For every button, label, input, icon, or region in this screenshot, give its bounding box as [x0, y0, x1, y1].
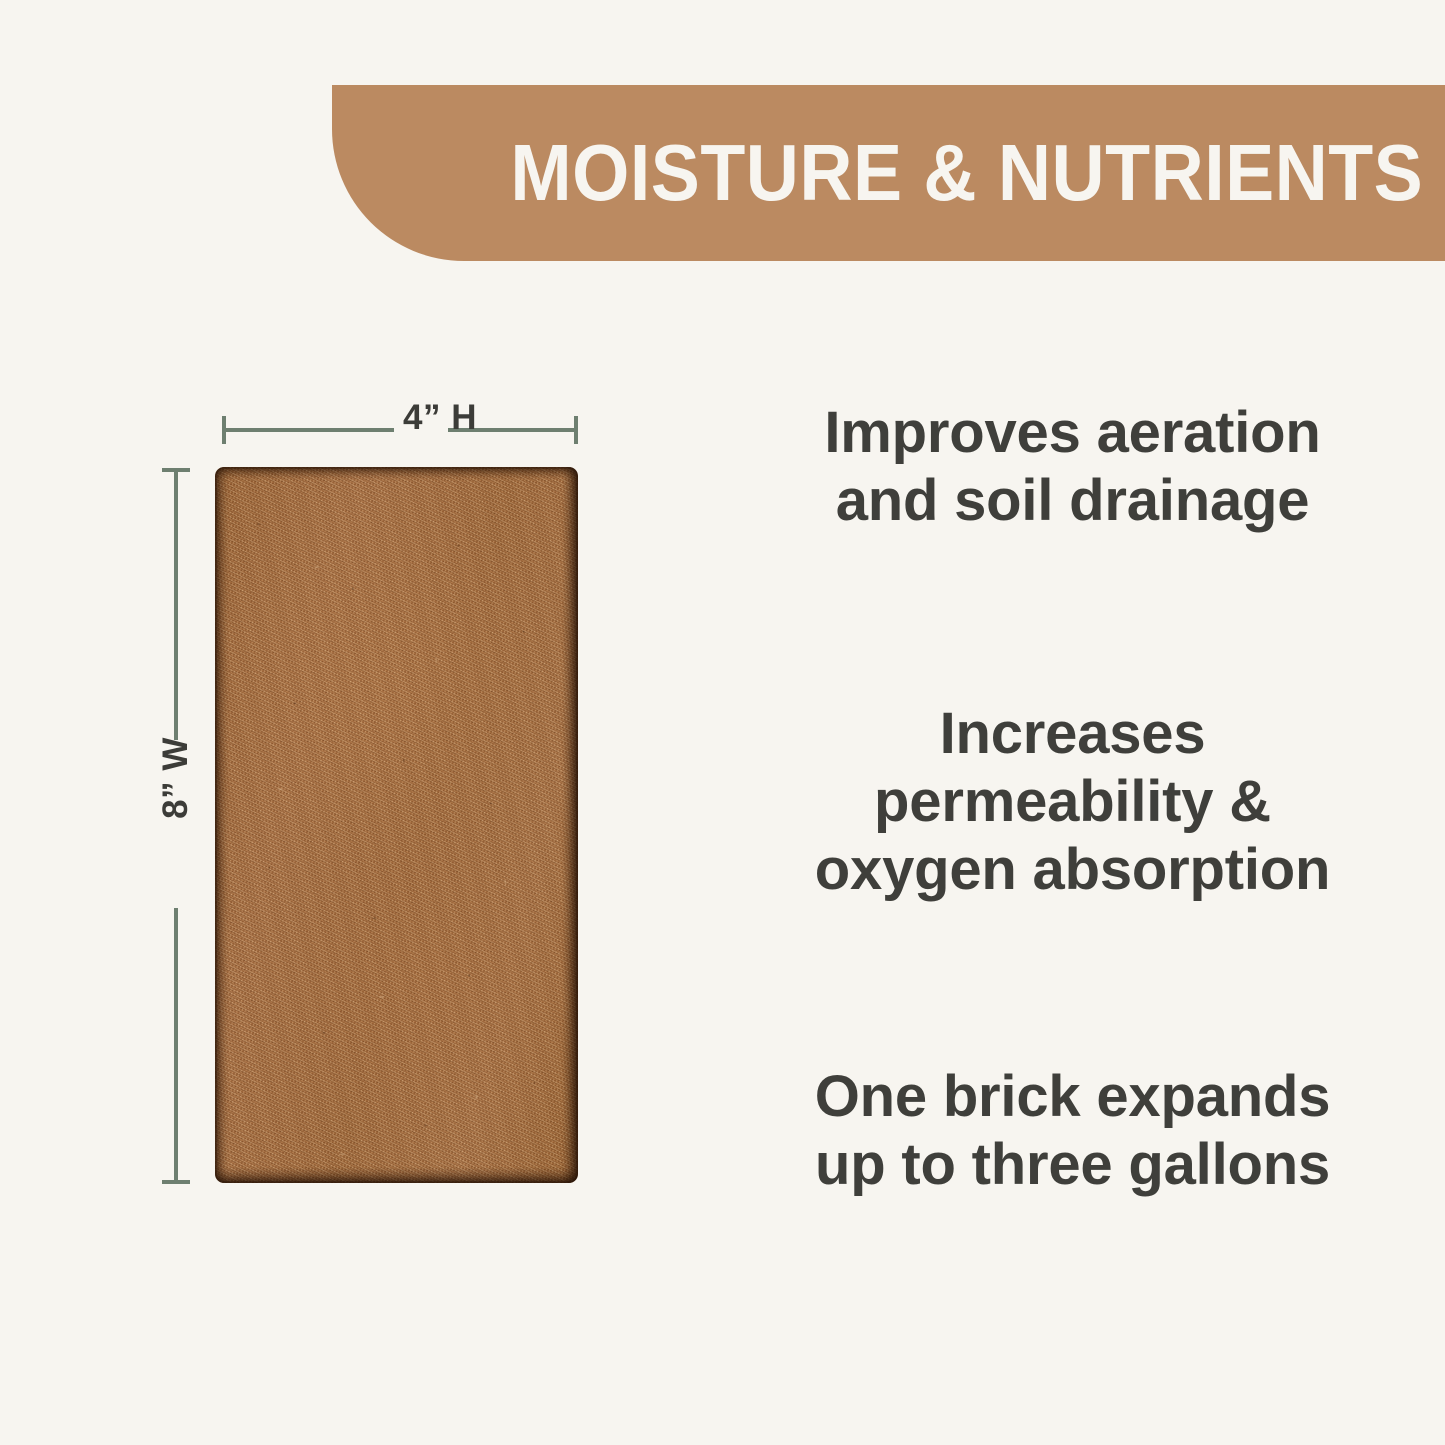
benefit-line: Improves aeration [700, 399, 1445, 467]
benefit-line: One brick expands [700, 1063, 1445, 1131]
benefit-item-permeability-oxygen: Increases permeability & oxygen absorpti… [700, 700, 1445, 904]
dimension-segment-bottom [174, 908, 178, 1180]
benefit-line: and soil drainage [700, 467, 1445, 535]
coco-coir-brick-image [215, 467, 578, 1183]
benefits-list: Improves aeration and soil drainage Incr… [700, 0, 1445, 1445]
benefit-item-aeration-drainage: Improves aeration and soil drainage [700, 399, 1445, 535]
dimension-label-width: 4” H [380, 398, 500, 438]
dimension-cap-right [574, 416, 578, 444]
dimension-segment-left [226, 428, 394, 432]
benefit-line: permeability & [700, 768, 1445, 836]
benefit-line: Increases [700, 700, 1445, 768]
benefit-line: oxygen absorption [700, 836, 1445, 904]
infographic-page: MOISTURE & NUTRIENTS 4” H 8” W Improves … [0, 0, 1445, 1445]
dimension-cap-bottom [162, 1180, 190, 1184]
benefit-item-expansion-volume: One brick expands up to three gallons [700, 1063, 1445, 1199]
product-figure: 4” H 8” W [0, 0, 700, 1445]
dimension-line-vertical: 8” W [174, 468, 178, 1184]
dimension-segment-top [174, 472, 178, 740]
dimension-label-height: 8” W [156, 718, 196, 838]
dimension-line-horizontal: 4” H [222, 428, 578, 432]
benefit-line: up to three gallons [700, 1131, 1445, 1199]
